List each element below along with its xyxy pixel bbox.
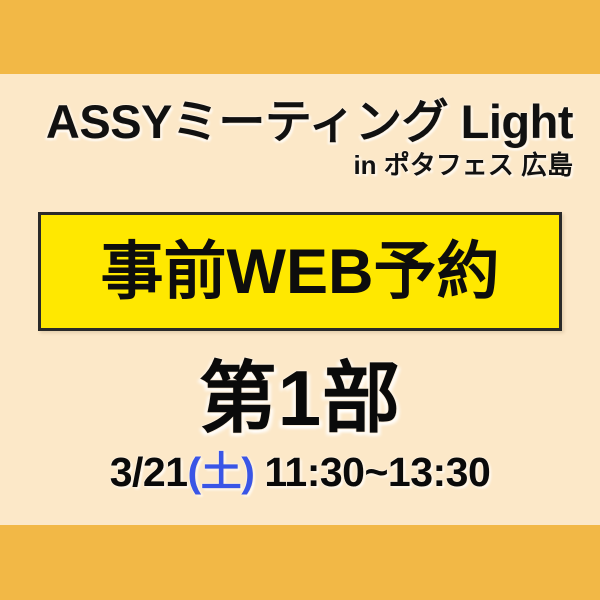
session-time: 11:30~13:30 <box>264 449 490 495</box>
heading-block: ASSYミーティング Light in ポタフェス 広島 <box>0 98 600 180</box>
session-datetime: 3/21(土)11:30~13:30 <box>0 449 600 495</box>
session-part-label: 第1部 <box>0 357 600 439</box>
top-decorative-band <box>0 0 600 74</box>
event-title: ASSYミーティング Light <box>0 98 573 146</box>
session-weekday: (土) <box>188 449 255 495</box>
advance-web-reservation-label: 事前WEB予約 <box>101 239 500 305</box>
poster-content-area: ASSYミーティング Light in ポタフェス 広島 事前WEB予約 第1部… <box>0 74 600 525</box>
session-date: 3/21 <box>110 449 188 495</box>
advance-web-reservation-box: 事前WEB予約 <box>38 212 562 331</box>
event-subtitle: in ポタフェス 広島 <box>0 150 573 180</box>
event-poster: ASSYミーティング Light in ポタフェス 広島 事前WEB予約 第1部… <box>0 0 600 600</box>
bottom-decorative-band <box>0 525 600 600</box>
